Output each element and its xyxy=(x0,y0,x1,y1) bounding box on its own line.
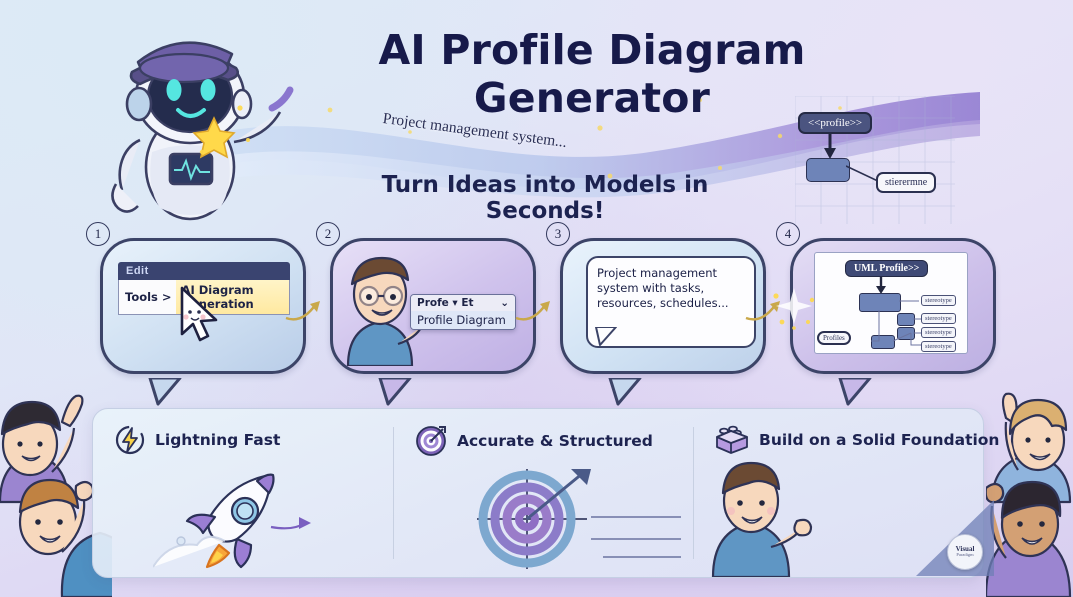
brand-logo: Visual Paradigm xyxy=(947,534,983,570)
step-1: 1 Edit Tools > AI Diagram Generation xyxy=(100,238,300,386)
arrow-down-icon xyxy=(820,134,860,160)
stereotype-pill: stereotype xyxy=(921,341,956,352)
stereotype-pill: stereotype xyxy=(921,295,956,306)
person-with-diagram-icon xyxy=(705,461,815,577)
sparkle-burst-icon xyxy=(768,280,822,334)
profile-stereotype-tag: <<profile>> xyxy=(798,112,872,134)
feature-header: Accurate & Structured xyxy=(415,425,691,457)
bubble-tail xyxy=(606,378,646,406)
bubble-tail xyxy=(376,378,416,406)
step-2-number: 2 xyxy=(316,222,340,246)
lego-brick-icon xyxy=(715,425,749,455)
association-line xyxy=(846,164,880,186)
target-bullseye-icon xyxy=(415,425,447,457)
step-3: 3 Project management system with tasks, … xyxy=(560,238,760,386)
menubar-label[interactable]: Edit xyxy=(118,262,290,280)
feature-divider xyxy=(393,427,394,559)
diagram-type-dropdown[interactable]: Profe ▾ Et ⌄ Profile Diagram xyxy=(410,294,516,330)
feature-divider xyxy=(693,427,694,559)
workflow-steps: 1 Edit Tools > AI Diagram Generation xyxy=(0,222,1073,394)
step-2: 2 Profe ▾ Et ⌄ xyxy=(330,238,530,386)
step-3-number: 3 xyxy=(546,222,570,246)
stereotype-pill: stereotype xyxy=(921,313,956,324)
dropdown-value: Profe ▾ Et xyxy=(417,297,474,309)
rocket-icon xyxy=(153,467,323,569)
feature-header: Build on a Solid Foundation xyxy=(715,425,981,455)
bubble-tail xyxy=(146,378,186,406)
lightning-bolt-icon xyxy=(115,425,145,455)
logo-line-2: Paradigm xyxy=(956,553,973,558)
step-4: 4 UML Profile>> Profil xyxy=(790,238,990,386)
page-title: AI Profile Diagram Generator xyxy=(262,26,922,122)
step-connector-1 xyxy=(284,284,328,324)
step-1-number: 1 xyxy=(86,222,110,246)
dropdown-option-profile-diagram[interactable]: Profile Diagram xyxy=(411,311,515,329)
dropdown-header[interactable]: Profe ▾ Et ⌄ xyxy=(411,295,515,311)
chevron-down-icon: ⌄ xyxy=(500,297,509,309)
target-with-arrow-icon xyxy=(475,467,595,571)
mouse-cursor-icon xyxy=(178,286,224,344)
feature-label: Lightning Fast xyxy=(155,431,280,449)
top-uml-fragment: <<profile>> stierermne xyxy=(780,112,930,202)
uml-class-box xyxy=(806,158,850,182)
profiles-label: Profiles xyxy=(817,331,851,345)
inner-bubble-tail xyxy=(594,327,620,347)
stereotype-connector-lines xyxy=(591,501,683,563)
stereotype-label: stierermne xyxy=(876,172,936,193)
generated-diagram-doc: UML Profile>> Profiles stereo xyxy=(814,252,968,354)
poster-canvas: AI Profile Diagram Generator Project man… xyxy=(0,0,1073,597)
step-connector-2 xyxy=(514,284,558,324)
feature-label: Build on a Solid Foundation xyxy=(759,431,999,449)
page-subtitle: Turn Ideas into Models in Seconds! xyxy=(330,172,760,224)
feature-header: Lightning Fast xyxy=(115,425,391,455)
feature-label: Accurate & Structured xyxy=(457,432,653,450)
feature-bar: Lightning Fast xyxy=(92,408,984,578)
stereotype-pill: stereotype xyxy=(921,327,956,338)
step-4-number: 4 xyxy=(776,222,800,246)
bubble-tail xyxy=(836,378,876,406)
cheering-people-right xyxy=(986,392,1073,597)
menu-lead-label: Tools > xyxy=(119,287,176,307)
